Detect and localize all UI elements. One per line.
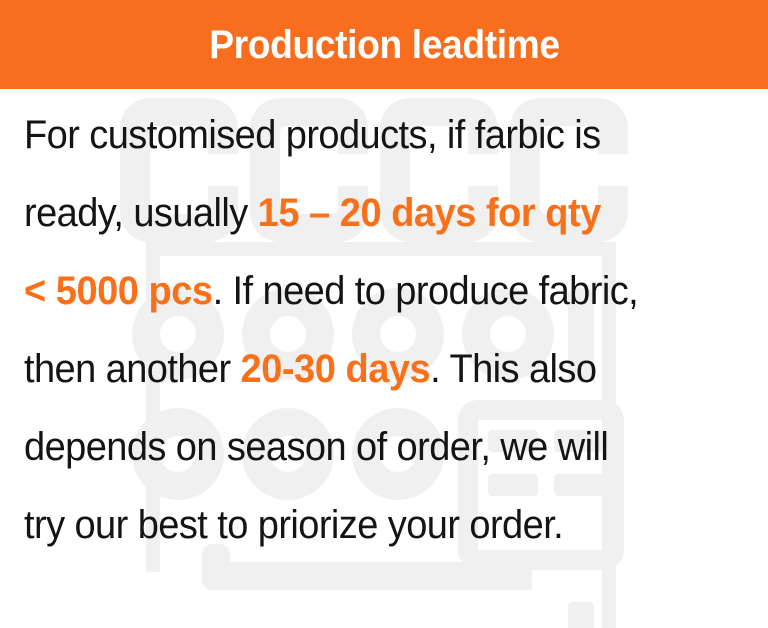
highlight-quantity-threshold: < 5000 pcs xyxy=(24,269,213,313)
body-text-segment: For customised products, if farbic is xyxy=(24,113,601,157)
banner-header: Production leadtime xyxy=(0,0,768,89)
body-line-6: try our best to priorize your order. xyxy=(24,486,712,564)
body-text-segment: try our best to priorize your order. xyxy=(24,503,563,547)
body-text-segment: ready, usually xyxy=(24,191,258,235)
body-text-segment: . If need to produce fabric, xyxy=(213,269,639,313)
body-text: For customised products, if farbic is re… xyxy=(24,96,748,564)
body-line-5: depends on season of order, we will xyxy=(24,408,712,486)
body-text-segment: . This also xyxy=(430,347,596,391)
highlight-leadtime-range: 15 – 20 days for qty xyxy=(258,191,601,235)
body-line-1: For customised products, if farbic is xyxy=(24,96,712,174)
body-text-segment: depends on season of order, we will xyxy=(24,425,608,469)
production-leadtime-banner: Production leadtime xyxy=(0,0,768,628)
highlight-fabric-leadtime: 20-30 days xyxy=(241,347,431,391)
body-line-2: ready, usually 15 – 20 days for qty xyxy=(24,174,712,252)
body-text-segment: then another xyxy=(24,347,241,391)
body-line-3: < 5000 pcs. If need to produce fabric, xyxy=(24,252,712,330)
page-title: Production leadtime xyxy=(209,25,560,65)
body-line-4: then another 20-30 days. This also xyxy=(24,330,712,408)
